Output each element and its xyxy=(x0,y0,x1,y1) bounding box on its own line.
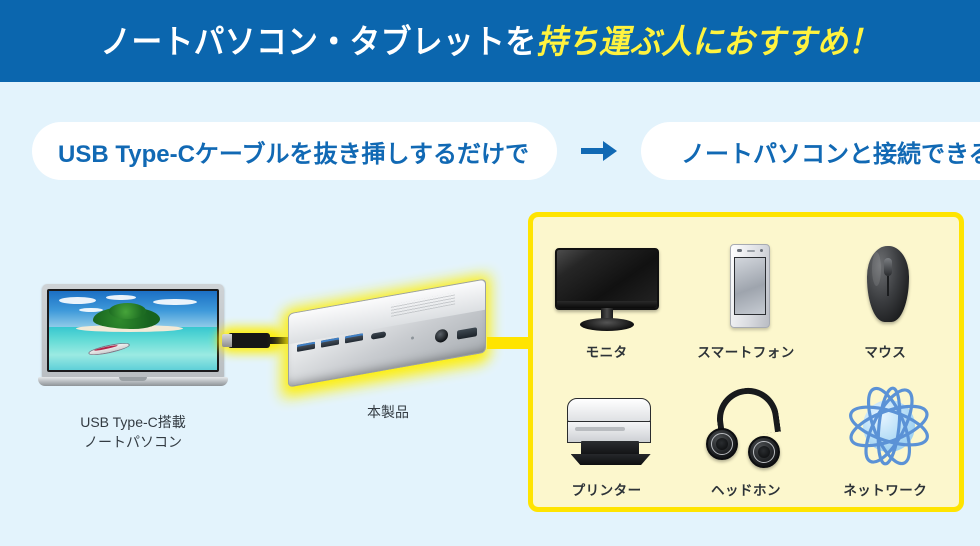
device-label: スマートフォン xyxy=(697,341,795,361)
header-bar: ノートパソコン・タブレットを持ち運ぶ人におすすめ！ xyxy=(0,0,980,82)
led-indicator-icon xyxy=(411,336,414,340)
steps-row: USB Type-Cケーブルを抜き挿しするだけで ノートパソコンと接続できる！ xyxy=(0,118,980,184)
printer-top xyxy=(567,398,651,422)
network-orbits xyxy=(843,384,935,472)
usb-c-port-icon xyxy=(371,331,386,340)
headphones-cup-left xyxy=(706,428,738,460)
wallpaper-island-top xyxy=(109,303,146,319)
device-label: ネットワーク xyxy=(843,479,927,499)
smartphone-sensor xyxy=(737,249,742,252)
laptop-lid xyxy=(42,284,224,378)
devices-box: モニタ スマートフォン マウス xyxy=(528,212,964,512)
device-item-printer: プリンター xyxy=(537,361,676,499)
monitor-icon xyxy=(547,238,667,334)
network-icon xyxy=(825,384,945,472)
headphones-pad xyxy=(758,446,770,458)
page-title-white: ノートパソコン・タブレットを xyxy=(101,23,537,60)
laptop-screen-wallpaper xyxy=(47,289,219,372)
smartphone-body xyxy=(730,244,770,328)
usb-c-plug-tip xyxy=(222,334,232,347)
laptop-notch xyxy=(119,377,147,381)
monitor-panel xyxy=(555,248,659,310)
device-item-headphones: ヘッドホン xyxy=(676,361,815,499)
usb-c-plug xyxy=(228,333,270,348)
smartphone-screen xyxy=(734,257,766,315)
step-pill-right-label: ノートパソコンと接続できる！ xyxy=(681,134,980,169)
mouse-scroll-wheel xyxy=(884,258,892,276)
audio-jack-icon xyxy=(435,328,448,343)
smartphone-camera xyxy=(760,249,763,252)
printer-output-slot xyxy=(581,441,639,455)
hdmi-port-icon xyxy=(457,327,477,340)
device-item-mouse: マウス xyxy=(816,223,955,361)
usb-a-port-icon xyxy=(321,337,339,347)
device-item-network: ネットワーク xyxy=(816,361,955,499)
mouse-button-split xyxy=(887,276,889,296)
laptop-icon xyxy=(38,284,228,400)
device-label: マウス xyxy=(864,341,906,361)
headphones-icon xyxy=(686,384,806,472)
step-pill-left: USB Type-Cケーブルを抜き挿しするだけで xyxy=(32,122,557,180)
docking-station-icon xyxy=(278,286,498,396)
laptop-caption-line1: USB Type-C搭載 xyxy=(38,412,228,432)
headphones-pad xyxy=(716,438,728,450)
printer-icon xyxy=(547,384,667,472)
monitor-chin xyxy=(557,301,657,308)
arrow-right-icon xyxy=(579,136,619,166)
mouse-icon xyxy=(825,238,945,334)
device-item-monitor: モニタ xyxy=(537,223,676,361)
dock-top-surface xyxy=(289,280,485,345)
page-title-yellow: 持ち運ぶ人におすすめ！ xyxy=(537,23,880,60)
device-label: モニタ xyxy=(586,341,628,361)
page-title: ノートパソコン・タブレットを持ち運ぶ人におすすめ！ xyxy=(101,25,880,58)
device-label: ヘッドホン xyxy=(711,479,781,499)
usb-a-port-icon xyxy=(345,333,363,343)
smartphone-icon xyxy=(686,238,806,334)
laptop-caption-line2: ノートパソコン xyxy=(38,432,228,452)
wallpaper-sea xyxy=(49,327,217,370)
usb-a-port-icon xyxy=(297,342,315,352)
promo-banner: ノートパソコン・タブレットを持ち運ぶ人におすすめ！ USB Type-Cケーブル… xyxy=(0,0,980,546)
headphones-cup-right xyxy=(748,436,780,468)
printer-slot xyxy=(575,427,625,431)
device-label: プリンター xyxy=(572,479,642,499)
printer-body xyxy=(567,421,651,443)
laptop-caption: USB Type-C搭載 ノートパソコン xyxy=(38,412,228,452)
step-pill-right: ノートパソコンと接続できる！ xyxy=(641,122,980,180)
printer-tray xyxy=(571,454,651,465)
smartphone-speaker xyxy=(747,250,755,252)
step-pill-left-label: USB Type-Cケーブルを抜き挿しするだけで xyxy=(58,134,529,169)
monitor-base xyxy=(580,318,634,331)
device-item-smartphone: スマートフォン xyxy=(676,223,815,361)
dock-caption: 本製品 xyxy=(300,402,476,422)
